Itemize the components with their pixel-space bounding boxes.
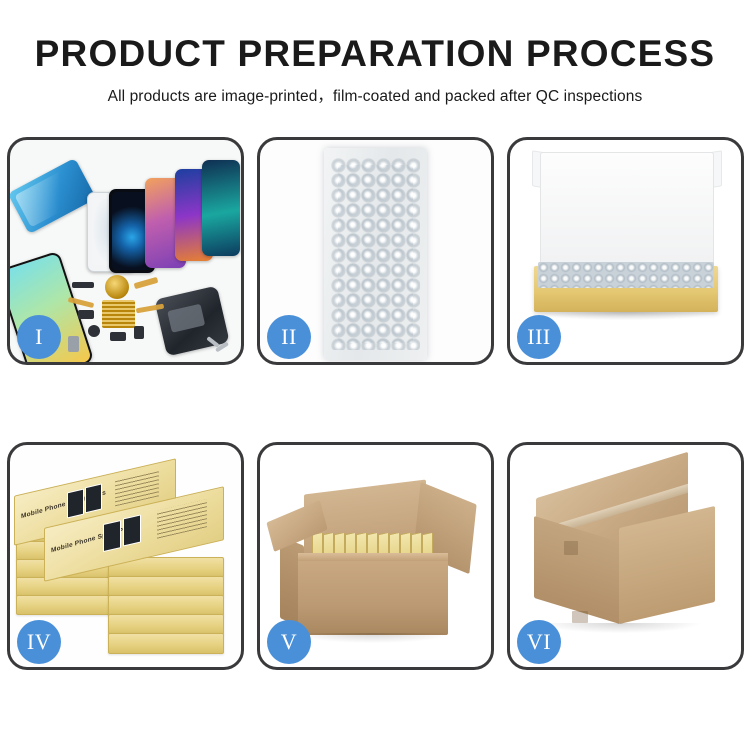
stacked-box xyxy=(16,595,112,615)
stacked-box xyxy=(108,633,224,654)
header: PRODUCT PREPARATION PROCESS All products… xyxy=(0,0,750,106)
carton-notch xyxy=(564,541,578,555)
box-spec-lines xyxy=(115,470,159,506)
box-drop-shadow xyxy=(538,312,714,320)
step-badge-1: I xyxy=(17,315,61,359)
flex-cable-part xyxy=(134,277,159,289)
teal-gradient-phone xyxy=(202,160,240,256)
box-lid-panel xyxy=(540,152,714,272)
box-product-swatch xyxy=(123,514,141,546)
step-badge-6: VI xyxy=(517,620,561,664)
process-step-panel-2: II xyxy=(257,137,494,365)
small-chip-part xyxy=(78,310,94,319)
carton-right-face xyxy=(619,506,715,624)
process-step-panel-1: I xyxy=(7,137,244,365)
small-chip-part xyxy=(134,326,144,339)
step-badge-2: II xyxy=(267,315,311,359)
step-badge-3: III xyxy=(517,315,561,359)
bubble-wrapped-product xyxy=(324,148,427,360)
carton-drop-shadow xyxy=(294,633,450,643)
box-product-swatch xyxy=(103,520,121,552)
bubble-texture-overlay xyxy=(338,165,413,343)
product-preparation-infographic: PRODUCT PREPARATION PROCESS All products… xyxy=(0,0,750,750)
process-step-panel-4: Mobile Phone Spare Parts Mobile Phone Sp… xyxy=(7,442,244,670)
stacked-box xyxy=(108,576,224,597)
carton-notch xyxy=(572,611,588,623)
carton-drop-shadow xyxy=(540,623,700,633)
page-title: PRODUCT PREPARATION PROCESS xyxy=(0,0,750,76)
gold-contact-grid-part xyxy=(102,300,135,328)
small-chip-part xyxy=(72,282,94,288)
carton-front-face xyxy=(298,553,448,635)
small-chip-part xyxy=(110,332,126,341)
stacked-box xyxy=(16,577,112,597)
stacked-box xyxy=(108,614,224,635)
speaker-part xyxy=(88,325,100,337)
sim-tray-part xyxy=(68,336,79,352)
stacked-box xyxy=(108,595,224,616)
carton-front-edge xyxy=(298,553,448,561)
page-subtitle: All products are image-printed，film-coat… xyxy=(0,76,750,106)
step-badge-5: V xyxy=(267,620,311,664)
process-step-panel-5: V xyxy=(257,442,494,670)
process-step-panel-6: VI xyxy=(507,442,744,670)
box-product-swatch xyxy=(85,483,102,513)
box-spec-lines xyxy=(157,499,207,539)
process-step-panel-3: III xyxy=(507,137,744,365)
bubble-wrapped-product-in-box xyxy=(538,262,714,288)
box-product-swatch xyxy=(67,489,84,519)
process-step-grid: I II III xyxy=(7,137,743,670)
copper-coil-part xyxy=(105,275,129,299)
step-badge-4: IV xyxy=(17,620,61,664)
blue-screen-film xyxy=(10,158,96,234)
